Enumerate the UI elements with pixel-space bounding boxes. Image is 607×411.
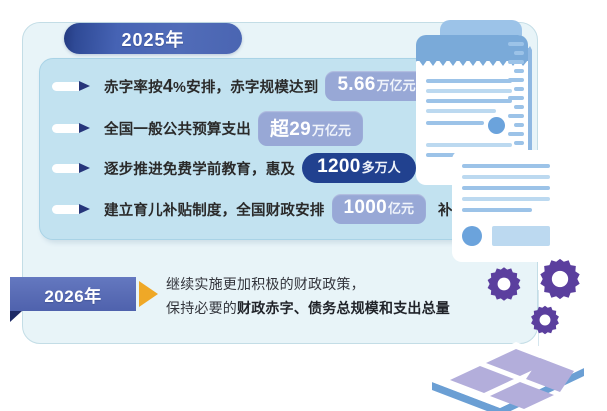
bullet-text: 建立育儿补贴制度，全国财政安排 xyxy=(104,199,325,220)
arrow-right-icon xyxy=(139,281,158,307)
policy-paragraph: 继续实施更加积极的财政政策， 保持必要的财政赤字、债务总规模和支出总量 xyxy=(166,272,476,320)
infographic-root: 2025年 赤字率按4%安排，赤字规模达到 5.66万亿元 全国一般公共预算支出… xyxy=(0,0,607,411)
bullet-text: 赤字率按4%安排，赤字规模达到 xyxy=(104,76,318,97)
arrow-bullet-icon xyxy=(52,81,92,92)
gear-icon xyxy=(484,264,524,304)
year-badge-2025: 2025年 xyxy=(64,23,242,54)
year-ribbon-2026: 2026年 xyxy=(10,277,136,311)
arrow-bullet-icon xyxy=(52,204,92,215)
bullet-text: 全国一般公共预算支出 xyxy=(104,118,251,139)
value-pill: 1000亿元 xyxy=(332,194,426,224)
ribbon-fold-shape xyxy=(10,311,22,322)
arrow-bullet-icon xyxy=(52,123,92,134)
arrow-bullet-icon xyxy=(52,163,92,174)
value-pill-highlight: 1200多万人 xyxy=(302,153,415,183)
isometric-board-icon xyxy=(428,330,588,411)
document-lower-icon xyxy=(452,150,564,262)
policy-line-2: 保持必要的财政赤字、债务总规模和支出总量 xyxy=(166,296,476,320)
value-pill: 5.66万亿元 xyxy=(325,71,427,101)
bullet-text: 逐步推进免费学前教育，惠及 xyxy=(104,158,295,179)
gear-icon xyxy=(536,255,584,303)
policy-line-1: 继续实施更加积极的财政政策， xyxy=(166,272,476,296)
value-pill: 超29万亿元 xyxy=(258,111,363,146)
year-badge-2025-label: 2025年 xyxy=(121,26,184,52)
gear-icon xyxy=(528,303,562,337)
year-ribbon-2026-label: 2026年 xyxy=(44,282,101,307)
